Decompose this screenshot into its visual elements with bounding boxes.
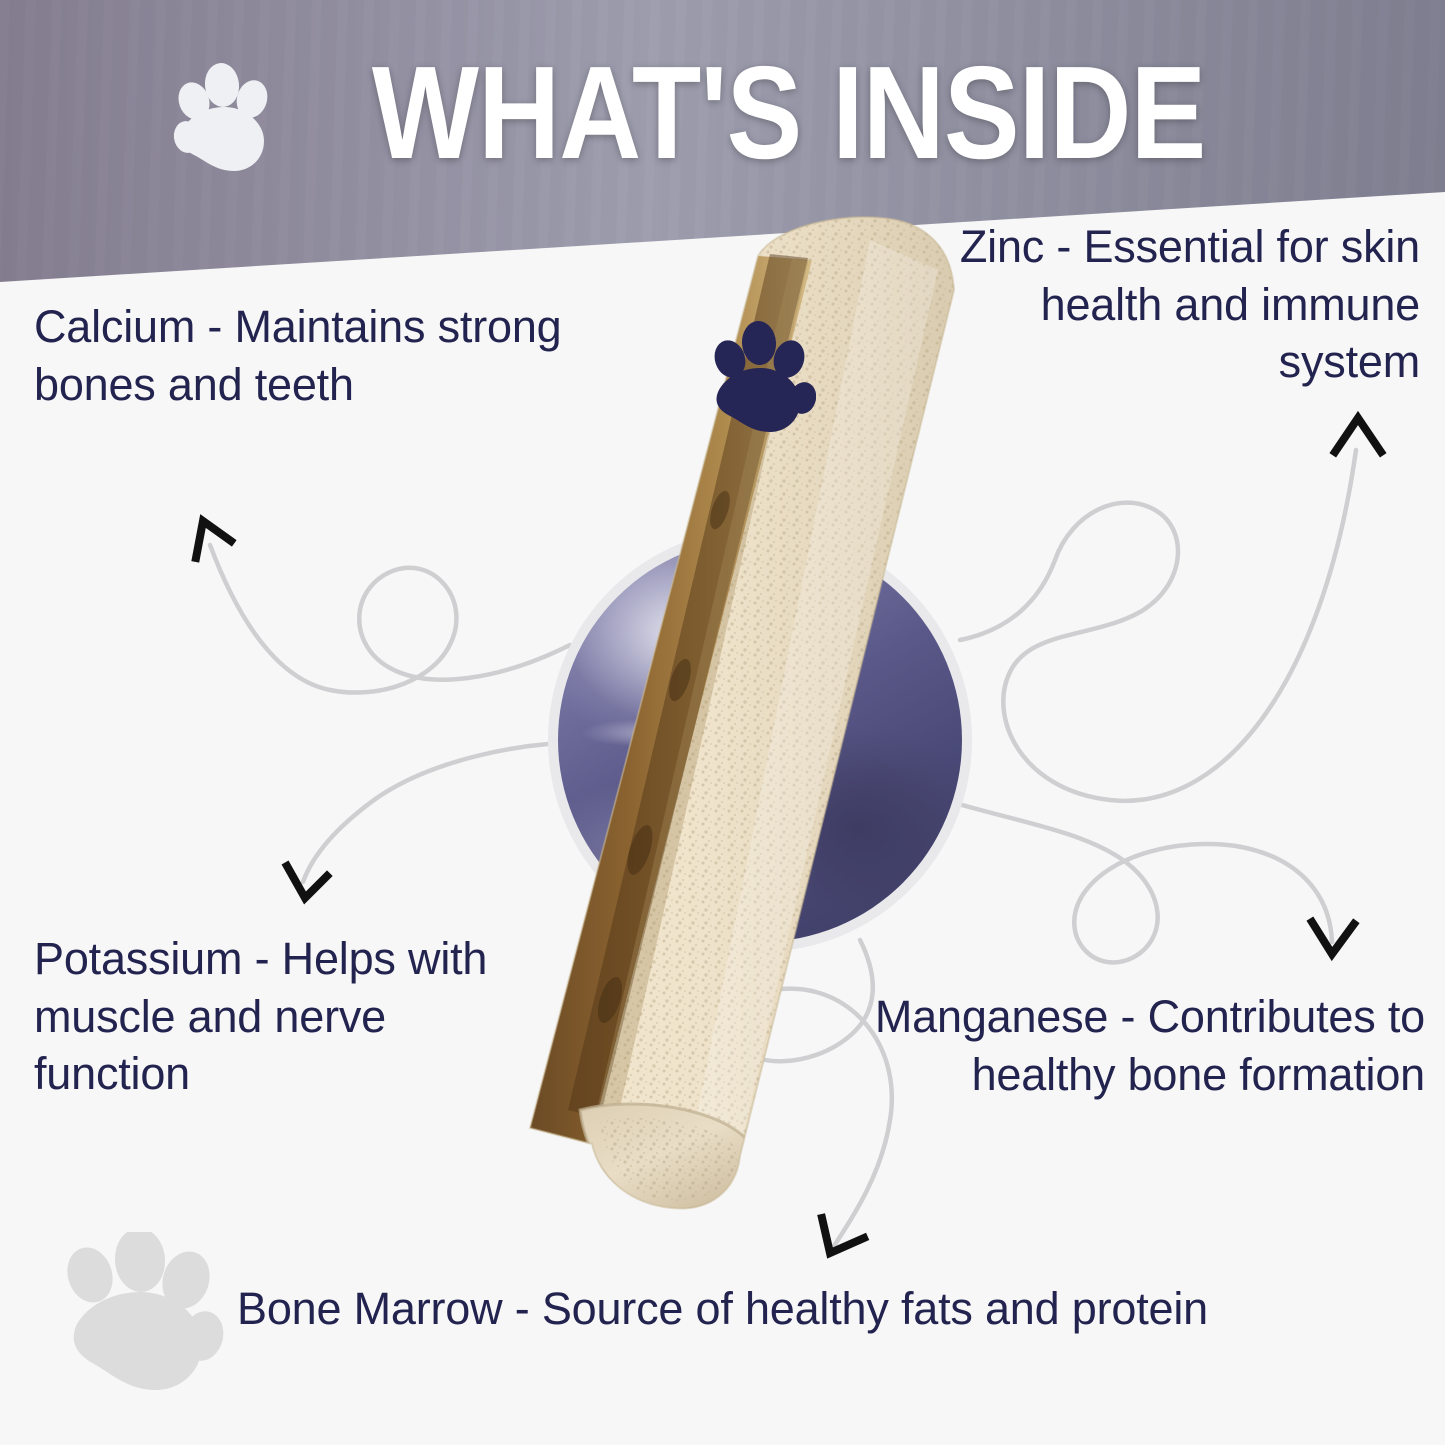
arrowhead-potassium <box>287 866 327 898</box>
arrowhead-zinc <box>1335 418 1381 452</box>
header-content: WHAT'S INSIDE <box>0 0 1445 230</box>
arrowhead-calcium <box>196 521 231 558</box>
paw-print-icon <box>172 57 278 177</box>
arrowhead-manganese <box>1312 922 1354 954</box>
page-title: WHAT'S INSIDE <box>372 47 1206 179</box>
paw-print-icon <box>706 316 816 438</box>
callout-label-bone-marrow: Bone Marrow - Source of healthy fats and… <box>0 1280 1445 1338</box>
infographic-canvas: WHAT'S INSIDE <box>0 0 1445 1445</box>
arrowhead-bone-marrow <box>822 1218 864 1253</box>
